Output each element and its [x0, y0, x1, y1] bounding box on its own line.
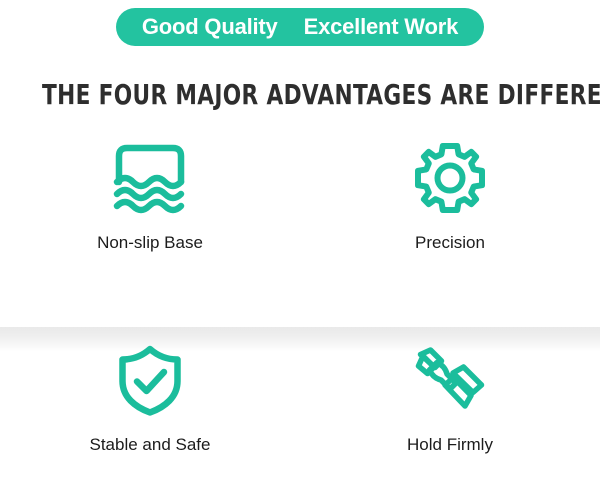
shield-check-icon	[112, 342, 188, 418]
feature-label: Stable and Safe	[90, 436, 211, 453]
feature-label: Hold Firmly	[407, 436, 493, 453]
feature-item-hold-firmly: Hold Firmly	[300, 342, 600, 485]
feature-label: Non-slip Base	[97, 234, 203, 251]
feature-grid: Non-slip Base Precision Stable and Safe	[0, 140, 600, 485]
quality-banner: Good Quality Excellent Work	[0, 8, 600, 46]
feature-label: Precision	[415, 234, 485, 251]
feature-row-top: Non-slip Base Precision	[0, 140, 600, 327]
gear-icon	[412, 140, 488, 216]
banner-left-text: Good Quality	[142, 16, 278, 38]
feature-row-bottom: Stable and Safe Hold Firmly	[0, 327, 600, 485]
feature-item-non-slip-base: Non-slip Base	[0, 140, 300, 327]
page-title: THE FOUR MAJOR ADVANTAGES ARE DIFFERENT	[42, 80, 558, 109]
feature-item-stable-and-safe: Stable and Safe	[0, 342, 300, 485]
banner-right-text: Excellent Work	[304, 16, 459, 38]
banner-pill: Good Quality Excellent Work	[116, 8, 484, 46]
pliers-icon	[412, 342, 488, 418]
feature-item-precision: Precision	[300, 140, 600, 327]
non-slip-base-icon	[112, 140, 188, 216]
